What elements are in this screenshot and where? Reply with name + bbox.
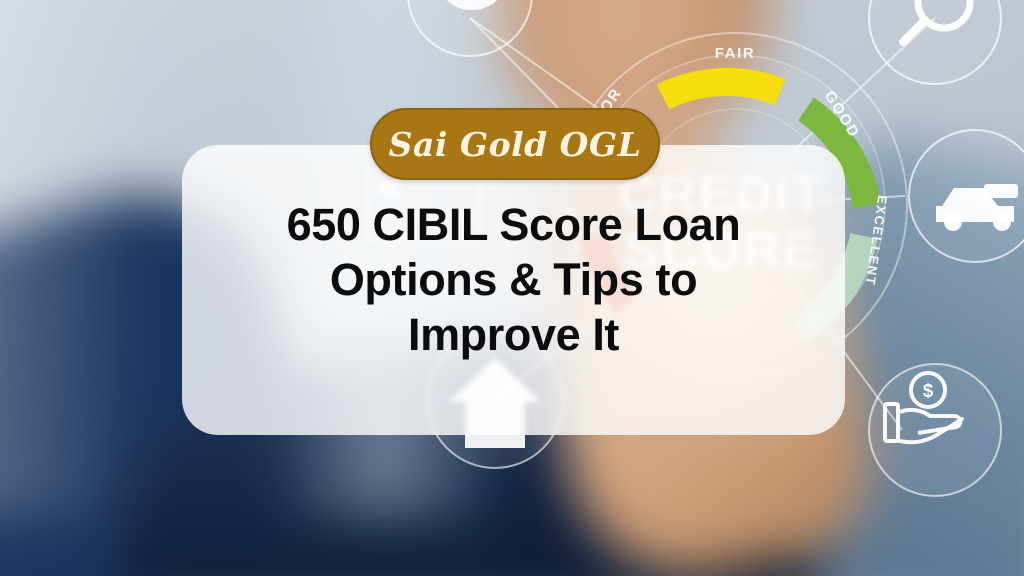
svg-text:$: $ — [923, 381, 934, 402]
car-icon — [909, 130, 1024, 262]
page-title-line-1: 650 CIBIL Score Loan — [182, 198, 845, 253]
gauge-segment-fair — [663, 82, 780, 97]
page-title-line-3: Improve It — [182, 308, 845, 363]
gauge-label-fair: FAIR — [715, 45, 756, 62]
hand-holding-coin-icon: $ — [869, 364, 1001, 496]
featured-image-canvas: FAIR GOOD EXCELLENT POOR VERY POOR CREDI… — [0, 0, 1024, 576]
brand-badge-label: Sai Gold OGL — [389, 125, 642, 164]
page-title: 650 CIBIL Score Loan Options & Tips to I… — [182, 198, 845, 363]
magnifier-icon — [869, 0, 1001, 84]
brand-badge[interactable]: Sai Gold OGL — [370, 108, 660, 180]
page-title-line-2: Options & Tips to — [182, 253, 845, 308]
